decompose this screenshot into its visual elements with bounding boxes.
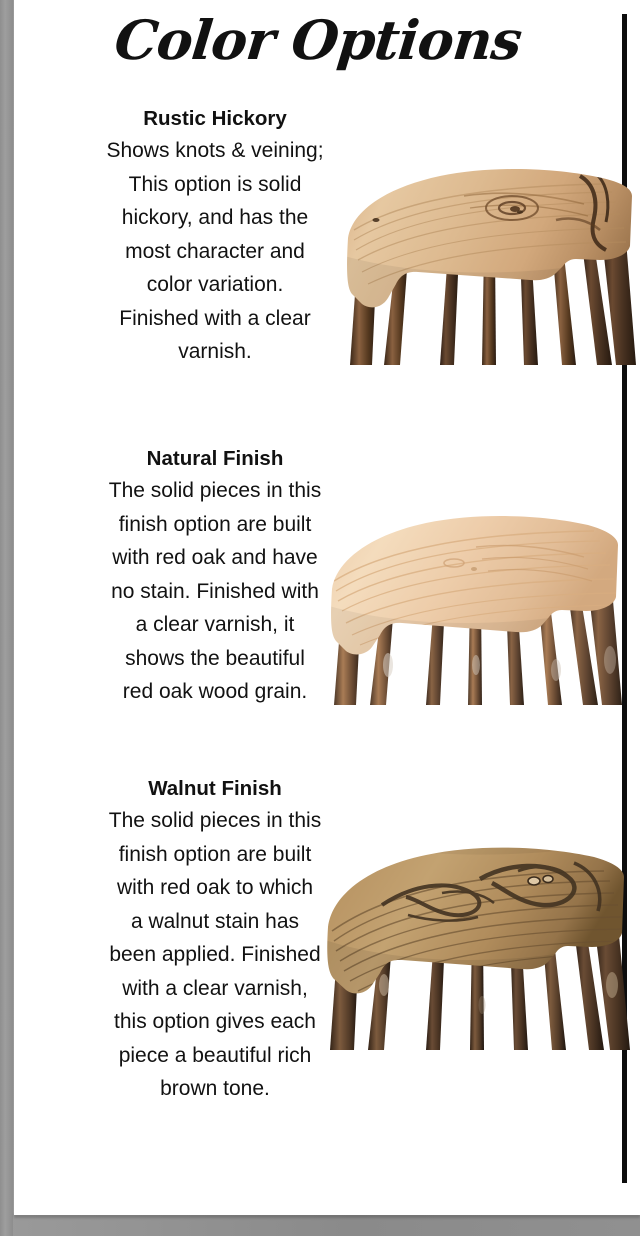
section-heading: Natural Finish <box>76 445 354 472</box>
document-sheet: Color Options Rustic Hickory Shows knots… <box>14 0 640 1215</box>
section-heading: Walnut Finish <box>76 775 354 802</box>
walnut-finish-chair-back-photo <box>322 835 630 1050</box>
section-heading: Rustic Hickory <box>76 105 354 132</box>
left-edge-rail <box>0 0 13 1236</box>
section-body: Shows knots & veining; This option is so… <box>76 134 354 369</box>
natural-finish-chair-back-photo <box>326 505 622 705</box>
section-text-column: Natural Finish The solid pieces in this … <box>76 445 354 709</box>
section-body: The solid pieces in this finish option a… <box>76 804 354 1106</box>
section-text-column: Rustic Hickory Shows knots & veining; Th… <box>76 105 354 369</box>
slide-page: Color Options Rustic Hickory Shows knots… <box>0 0 640 1236</box>
section-body: The solid pieces in this finish option a… <box>76 474 354 709</box>
page-title: Color Options <box>14 8 625 72</box>
section-text-column: Walnut Finish The solid pieces in this f… <box>76 775 354 1106</box>
rustic-hickory-chair-back-photo <box>344 160 636 365</box>
